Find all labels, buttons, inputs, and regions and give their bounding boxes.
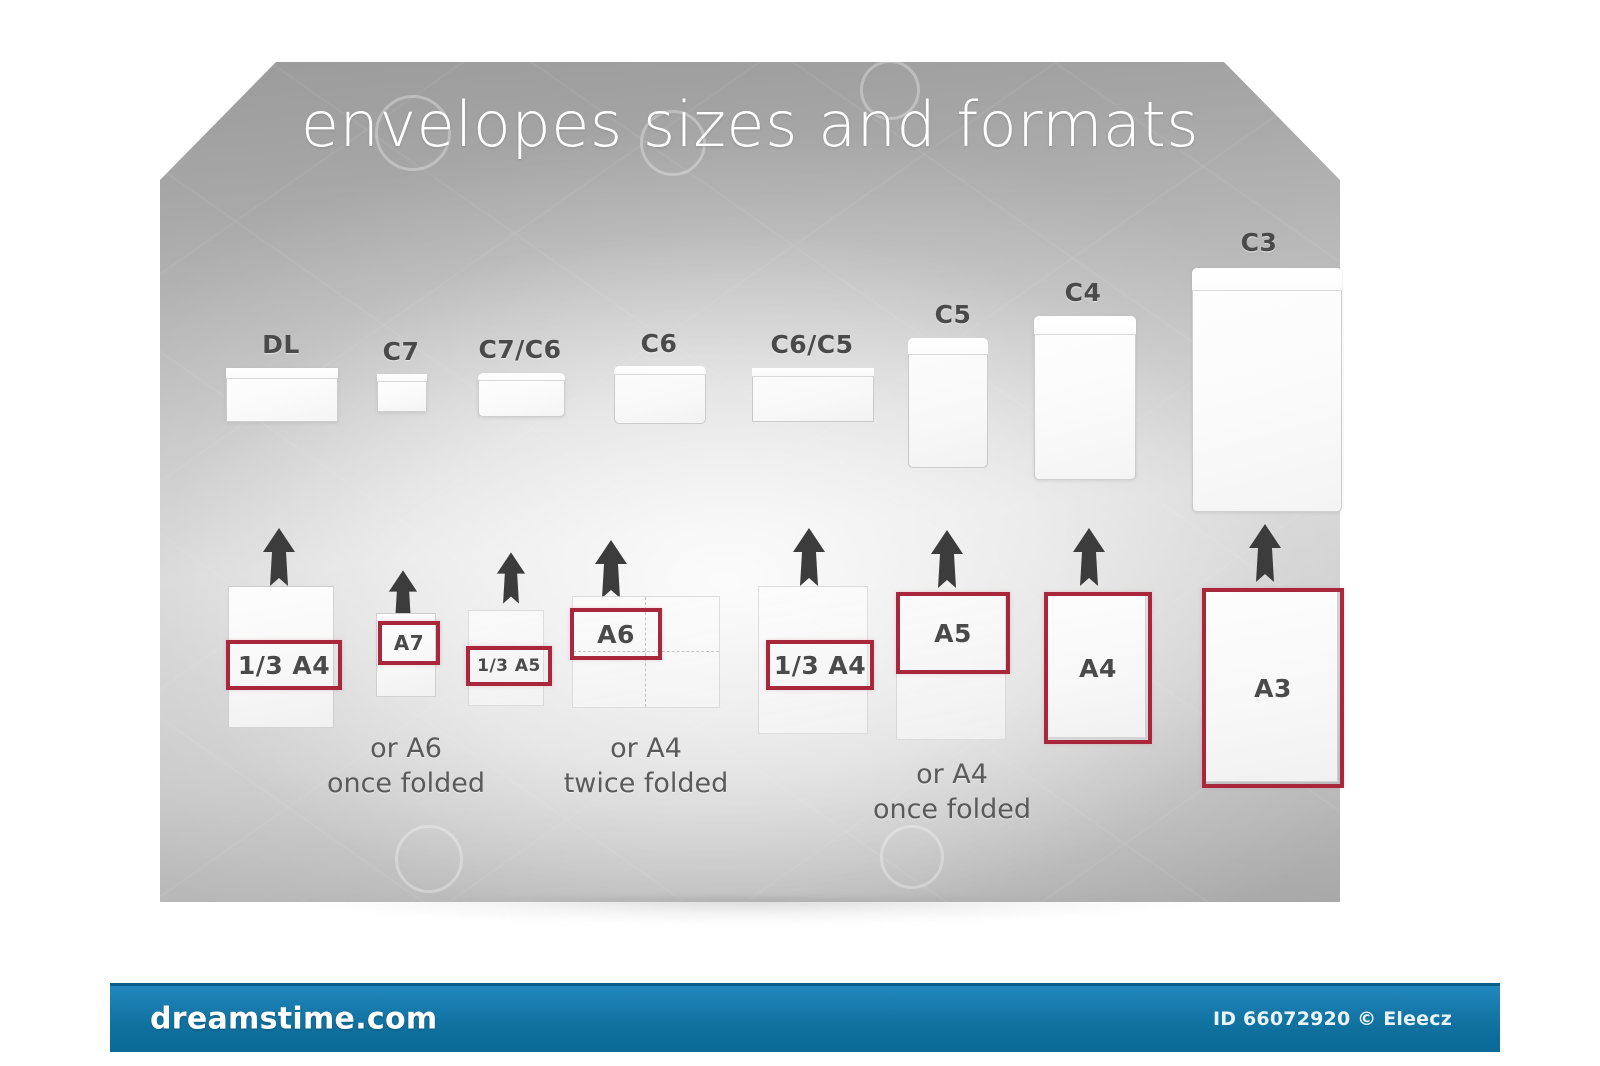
paper-note-a5: or A4 once folded	[862, 758, 1042, 827]
footer-watermark-bar: dreamstime.com ID 66072920 © Eleecz	[110, 983, 1500, 1052]
paper-label-box-a4: A4	[1044, 592, 1152, 744]
envelope-flap	[908, 338, 988, 355]
paper-label-box-third-a5: 1/3 A5	[466, 646, 552, 686]
paper-label-box-a7: A7	[378, 621, 440, 665]
envelope-label-c3: C3	[1228, 228, 1290, 257]
arrow-up-icon	[1248, 524, 1282, 582]
arrow-up-icon	[1072, 528, 1106, 586]
envelope-flap	[226, 368, 338, 379]
envelope-label-c7: C7	[375, 337, 427, 366]
paper-label: 1/3 A5	[477, 656, 541, 676]
envelope-flap	[752, 368, 874, 377]
paper-label-box-third-a4-2: 1/3 A4	[766, 640, 874, 690]
paper-label: 1/3 A4	[774, 651, 866, 680]
paper-note-a6: or A4 twice folded	[558, 732, 734, 801]
envelope-c5	[908, 338, 988, 468]
poster-shadow	[175, 898, 1325, 932]
paper-note-a7: or A6 once folded	[320, 732, 492, 801]
envelope-flap	[478, 373, 565, 381]
envelope-label-c6: C6	[630, 329, 688, 358]
watermark-ring	[1350, 315, 1420, 385]
envelope-flap	[614, 366, 706, 375]
arrow-up-icon	[262, 528, 296, 586]
paper-label-box-a6: A6	[570, 608, 662, 660]
paper-label: A4	[1079, 654, 1117, 683]
image-credit: ID 66072920 © Eleecz	[1213, 1008, 1452, 1030]
envelope-dl	[226, 368, 338, 422]
paper-label: A7	[394, 631, 424, 655]
arrow-up-icon	[594, 540, 628, 598]
dreamstime-logo[interactable]: dreamstime.com	[150, 1002, 437, 1037]
envelope-label-c6c5: C6/C5	[760, 330, 864, 359]
paper-label: A3	[1254, 674, 1292, 703]
paper-label-box-a3: A3	[1202, 588, 1344, 788]
envelope-label-dl: DL	[226, 330, 336, 359]
envelope-flap	[1034, 316, 1136, 335]
envelope-flap	[377, 374, 427, 382]
envelope-c6	[614, 366, 706, 424]
arrow-up-icon	[792, 528, 826, 586]
envelope-label-c4: C4	[1052, 278, 1114, 307]
envelope-c4	[1034, 316, 1136, 480]
page-title: envelopes sizes and formats	[160, 94, 1340, 156]
paper-label: 1/3 A4	[238, 651, 330, 680]
envelope-flap	[1192, 268, 1342, 291]
paper-label: A6	[597, 620, 635, 649]
envelope-label-c7c6: C7/C6	[472, 335, 568, 364]
paper-label-box-third-a4-1: 1/3 A4	[226, 640, 342, 690]
envelope-label-c5: C5	[922, 300, 984, 329]
arrow-up-icon	[930, 530, 964, 588]
envelope-c3	[1192, 268, 1342, 512]
envelope-c6c5	[752, 368, 874, 422]
paper-label-box-a5: A5	[896, 592, 1010, 674]
envelope-c7c6	[478, 373, 565, 417]
envelope-c7	[377, 374, 427, 412]
paper-label: A5	[934, 619, 972, 648]
arrow-up-icon	[496, 552, 526, 604]
